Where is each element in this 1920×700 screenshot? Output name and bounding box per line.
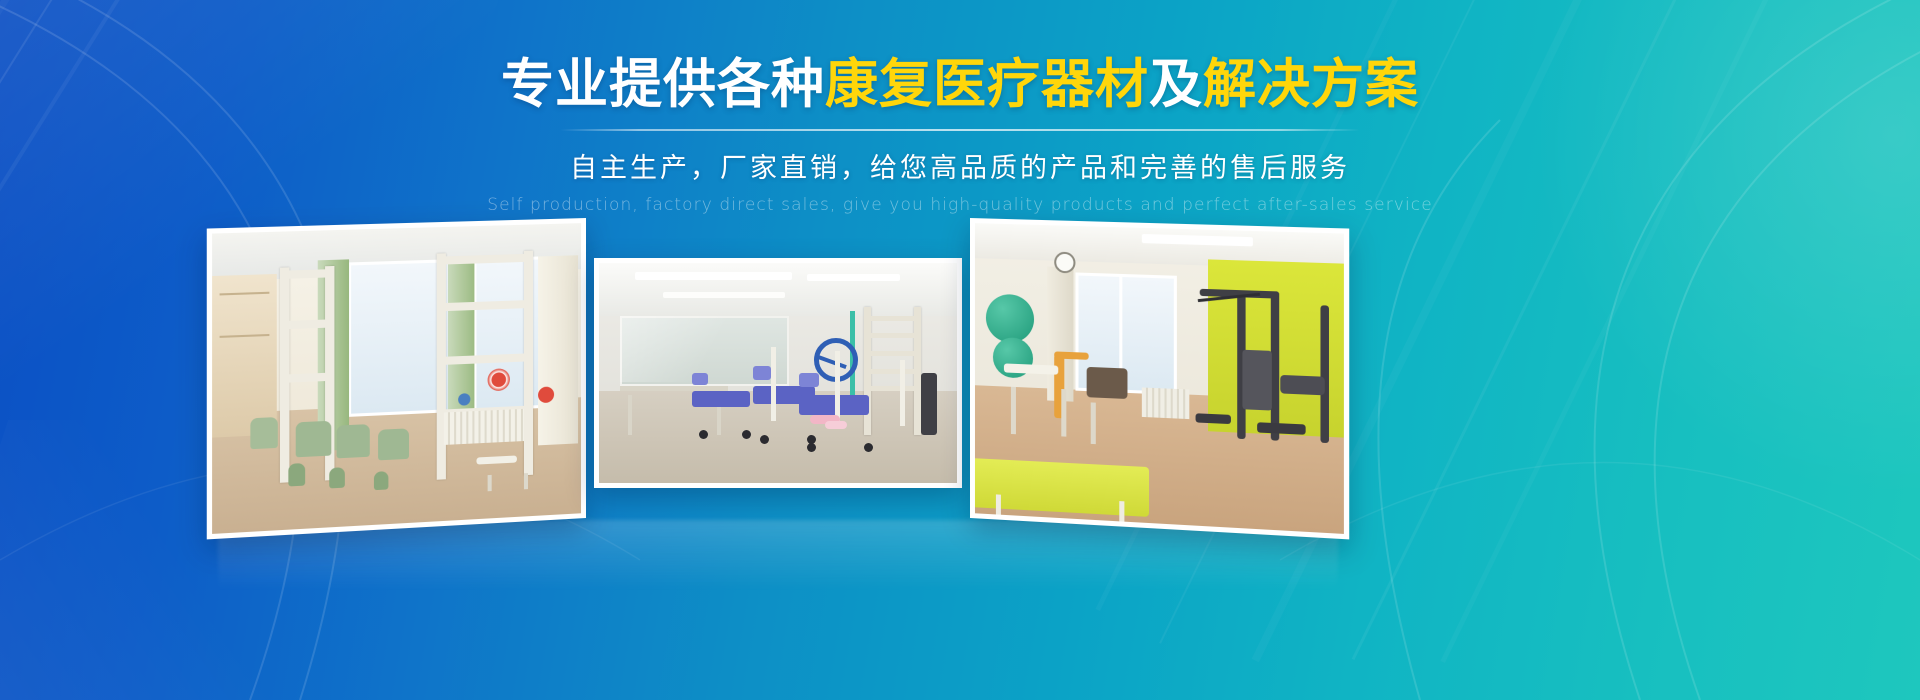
subtitle-chinese: 自主生产，厂家直销，给您高品质的产品和完善的售后服务 bbox=[0, 146, 1920, 185]
rehab-equipment-hall-photo bbox=[599, 263, 957, 483]
gallery-photo-2[interactable] bbox=[594, 258, 962, 488]
rehab-training-room-photo bbox=[212, 223, 581, 534]
photo-gallery bbox=[0, 200, 1920, 560]
headline-segment-2: 康复医疗器材 bbox=[825, 54, 1149, 115]
gallery-photo-3[interactable] bbox=[970, 218, 1349, 539]
page-title: 专业提供各种康复医疗器材及解决方案 bbox=[0, 56, 1920, 113]
gallery-photo-1[interactable] bbox=[207, 218, 586, 539]
banner-text-block: 专业提供各种康复医疗器材及解决方案 自主生产，厂家直销，给您高品质的产品和完善的… bbox=[0, 56, 1920, 215]
promo-banner: 专业提供各种康复医疗器材及解决方案 自主生产，厂家直销，给您高品质的产品和完善的… bbox=[0, 0, 1920, 700]
headline-segment-1: 专业提供各种 bbox=[501, 54, 825, 115]
title-divider bbox=[560, 129, 1360, 131]
headline-segment-4: 解决方案 bbox=[1203, 54, 1419, 115]
subtitle-english: Self production, factory direct sales, g… bbox=[0, 195, 1920, 215]
headline-segment-3: 及 bbox=[1149, 54, 1203, 115]
rehab-gym-photo bbox=[975, 223, 1344, 534]
